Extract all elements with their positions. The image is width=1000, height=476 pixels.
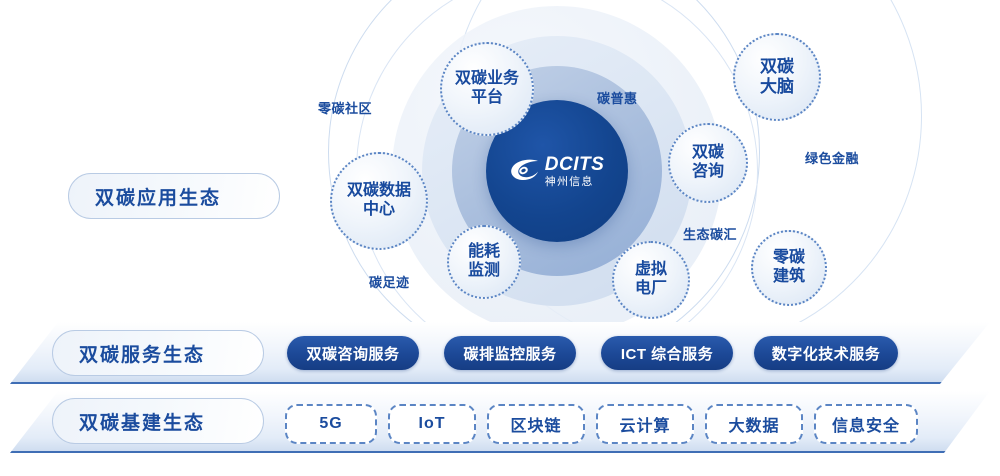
- row-label-infrastructure: 双碳基建生态: [52, 398, 264, 444]
- bubble-dual-carbon-consulting[interactable]: 双碳咨询: [668, 123, 748, 203]
- bubble-label-line1: 能耗: [468, 243, 500, 262]
- bubble-label-line2: 平台: [455, 89, 519, 108]
- bubble-label: 双碳大脑: [756, 57, 798, 97]
- row-label-service-text: 双碳服务生态: [53, 340, 205, 367]
- logo-en-text: DCITS: [545, 155, 605, 174]
- bubble-label-line1: 双碳: [760, 57, 794, 77]
- bubble-zero-carbon-building[interactable]: 零碳建筑: [751, 230, 827, 306]
- bubble-label-line1: 双碳: [692, 144, 724, 163]
- bubble-label-line1: 双碳数据: [347, 182, 411, 201]
- floating-label-green-finance: 绿色金融: [805, 148, 859, 167]
- service-pill-dual-carbon-consulting-service[interactable]: 双碳咨询服务: [287, 336, 419, 370]
- bubble-label-line1: 零碳: [773, 249, 805, 268]
- bubble-label-line2: 大脑: [760, 77, 794, 97]
- bubble-virtual-power-plant[interactable]: 虚拟电厂: [612, 241, 690, 319]
- bubble-label: 双碳数据中心: [343, 182, 415, 220]
- floating-label-ecological-carbon-sink: 生态碳汇: [683, 224, 737, 243]
- diagram-canvas: 双碳应用生态 DCITS 神州信息 双碳业务平台双碳大脑双碳: [0, 0, 1000, 476]
- bubble-energy-consumption-monitoring[interactable]: 能耗监测: [447, 225, 521, 299]
- service-pill-digital-technology-service[interactable]: 数字化技术服务: [754, 336, 898, 370]
- bubble-dual-carbon-data-center[interactable]: 双碳数据中心: [330, 152, 428, 250]
- row-label-service: 双碳服务生态: [52, 330, 264, 376]
- bubble-label-line2: 咨询: [692, 163, 724, 182]
- bubble-label: 双碳咨询: [688, 144, 728, 182]
- infrastructure-box-cloud-computing[interactable]: 云计算: [596, 404, 694, 444]
- bubble-label-line2: 监测: [468, 262, 500, 281]
- bubble-label-line2: 电厂: [635, 280, 667, 299]
- infrastructure-box-blockchain[interactable]: 区块链: [487, 404, 585, 444]
- row-label-application-text: 双碳应用生态: [69, 183, 221, 210]
- floating-label-carbon-inclusion: 碳普惠: [597, 88, 638, 107]
- bubble-dual-carbon-business-platform[interactable]: 双碳业务平台: [440, 42, 534, 136]
- bubble-label-line1: 双碳业务: [455, 70, 519, 89]
- infrastructure-box-big-data[interactable]: 大数据: [705, 404, 803, 444]
- bubble-label-line2: 建筑: [773, 268, 805, 287]
- logo-cn-text: 神州信息: [545, 177, 605, 188]
- dcits-swoosh-icon: [510, 158, 540, 184]
- bubble-label: 能耗监测: [464, 243, 504, 281]
- infrastructure-box-iot[interactable]: IoT: [388, 404, 476, 444]
- floating-label-carbon-footprint: 碳足迹: [369, 272, 410, 291]
- floating-label-zero-carbon-community: 零碳社区: [318, 98, 372, 117]
- infrastructure-box-information-security[interactable]: 信息安全: [814, 404, 918, 444]
- bubble-label-line2: 中心: [347, 201, 411, 220]
- bubble-label: 双碳业务平台: [451, 70, 523, 108]
- service-pill-carbon-emission-monitoring-service[interactable]: 碳排监控服务: [444, 336, 576, 370]
- bubble-label: 虚拟电厂: [631, 261, 671, 299]
- row-label-application: 双碳应用生态: [68, 173, 280, 219]
- bubble-label: 零碳建筑: [769, 249, 809, 287]
- infrastructure-box-5g[interactable]: 5G: [285, 404, 377, 444]
- bubble-label-line1: 虚拟: [635, 261, 667, 280]
- row-label-infrastructure-text: 双碳基建生态: [53, 408, 205, 435]
- service-pill-ict-integrated-service[interactable]: ICT 综合服务: [601, 336, 733, 370]
- bubble-dual-carbon-brain[interactable]: 双碳大脑: [733, 33, 821, 121]
